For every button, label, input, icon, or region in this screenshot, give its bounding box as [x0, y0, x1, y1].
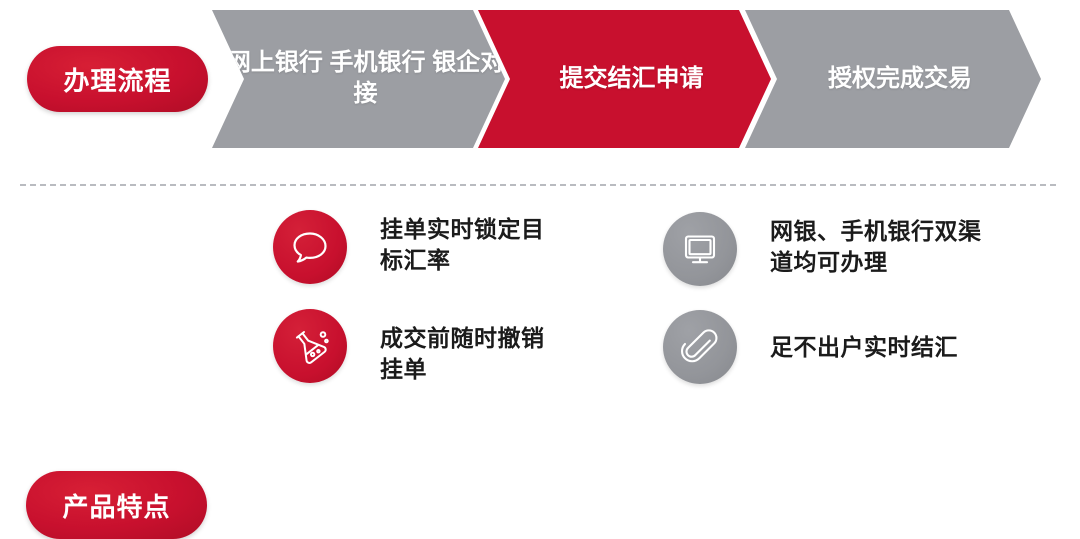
process-step-1: 网上银行 手机银行 银企对接 [212, 10, 505, 148]
feature-item-2: 成交前随时撤销 挂单 [273, 309, 633, 384]
process-step-2: 提交结汇申请 [478, 10, 771, 148]
process-flow-section: 办理流程 网上银行 手机银行 银企对接 提交结汇申请 授权完成交易 [0, 0, 1080, 170]
feature-item-3: 网银、手机银行双渠 道均可办理 [663, 212, 1063, 286]
feature-item-3-label: 网银、手机银行双渠 道均可办理 [770, 212, 982, 277]
monitor-icon [663, 212, 737, 286]
infographic-canvas: 办理流程 网上银行 手机银行 银企对接 提交结汇申请 授权完成交易 挂单实时锁定… [0, 0, 1080, 403]
section-divider [20, 184, 1056, 186]
feature-item-4: 足不出户实时结汇 [663, 310, 1063, 384]
process-step-1-label: 网上银行 手机银行 银企对接 [212, 48, 505, 109]
product-features-pill-label: 产品特点 [26, 471, 207, 539]
process-step-3: 授权完成交易 [745, 10, 1041, 148]
flask-icon [273, 309, 347, 383]
process-flow-pill-label: 办理流程 [27, 46, 208, 112]
process-step-2-label: 提交结汇申请 [478, 64, 771, 95]
feature-item-1-label: 挂单实时锁定目 标汇率 [380, 210, 545, 275]
feature-item-1: 挂单实时锁定目 标汇率 [273, 210, 633, 284]
feature-item-2-label: 成交前随时撤销 挂单 [380, 309, 545, 384]
paperclip-icon [663, 310, 737, 384]
product-features-section: 挂单实时锁定目 标汇率 成交前随时撤销 挂单 [0, 196, 1080, 403]
feature-item-4-label: 足不出户实时结汇 [770, 310, 958, 363]
process-step-3-label: 授权完成交易 [745, 64, 1041, 95]
speech-bubble-icon [273, 210, 347, 284]
